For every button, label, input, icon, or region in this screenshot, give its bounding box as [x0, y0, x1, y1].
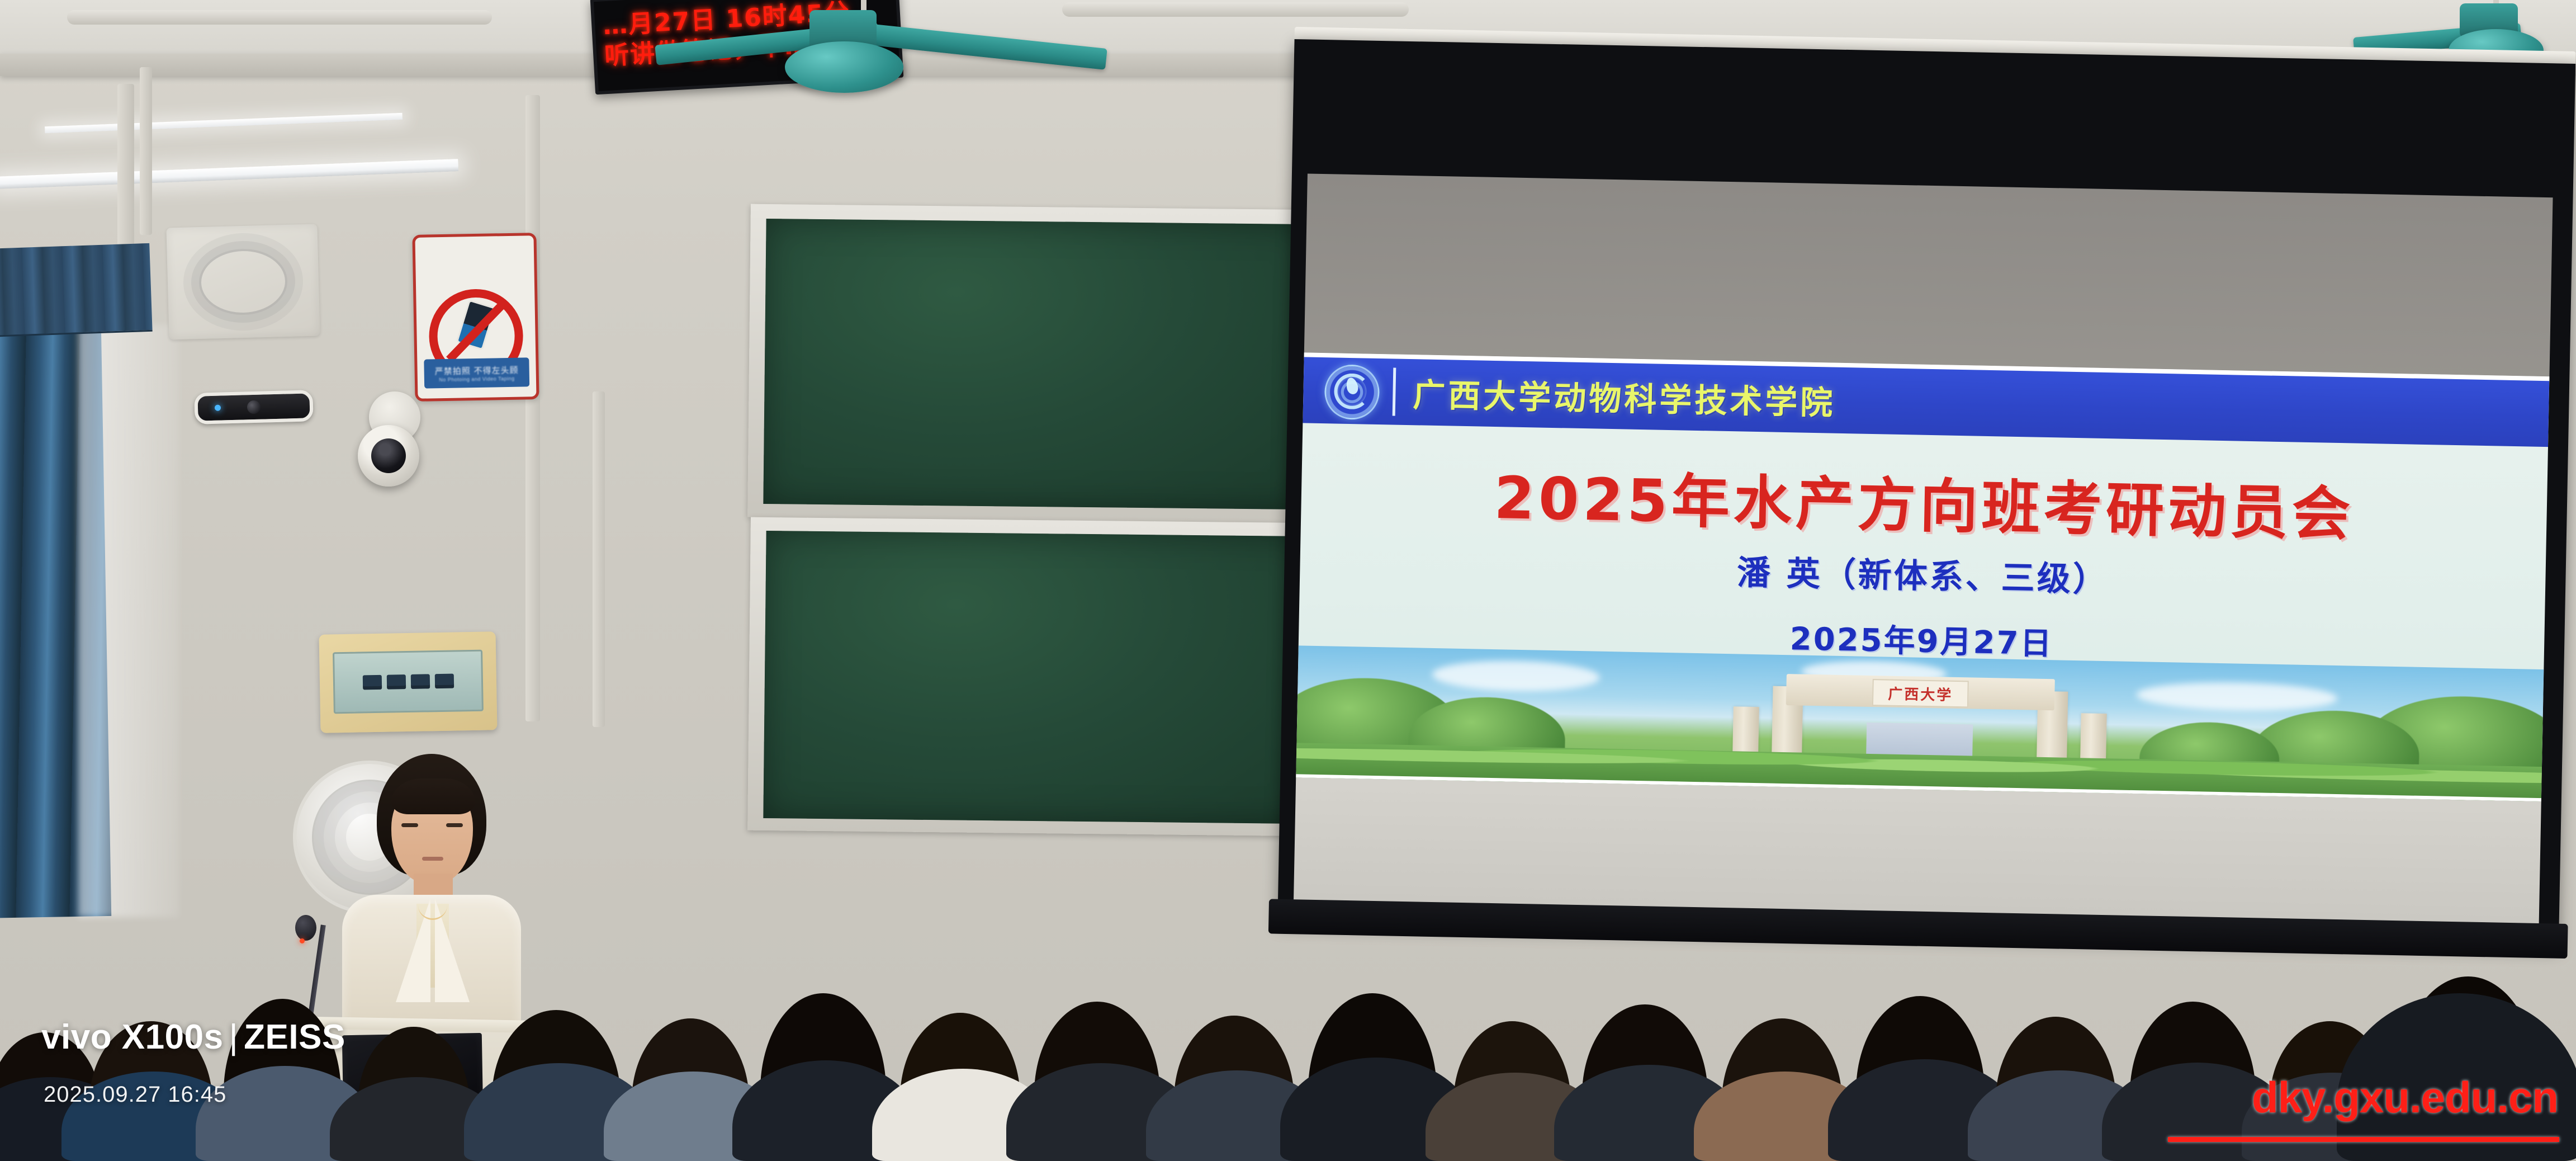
site-url-watermark: dky.gxu.edu.cn — [2252, 1072, 2558, 1123]
audience-group — [0, 848, 2576, 1161]
ceiling-fan-hub — [785, 41, 903, 93]
no-photography-caption: 严禁拍照 不得左头顾 No Photoing and Video Taping — [424, 357, 529, 388]
camera-lens-icon — [371, 438, 406, 473]
blackboard-frame-lower — [747, 517, 1321, 837]
breaker-switch — [434, 674, 453, 689]
electrical-breaker-box — [319, 631, 497, 733]
blackboard-panel-lower — [763, 531, 1309, 824]
slide-main-title: 2025年水产方向班考研动员会 — [1301, 446, 2547, 555]
presenter-eye — [446, 823, 463, 827]
cloud-shape — [1432, 659, 1600, 693]
wall-conduit — [140, 67, 152, 235]
breaker-switch — [362, 675, 381, 690]
ceiling-pipe — [1062, 2, 1409, 17]
gate-plaque-text: 广西大学 — [1888, 682, 1953, 704]
university-seal-icon — [1324, 364, 1380, 420]
curtain-highlight — [78, 324, 179, 917]
lecture-hall-photo: …月27日 16时45分 听讲做笔记，不… 严禁拍照 不得左头顾 No Phot… — [0, 0, 2576, 1161]
speaker-ripple-icon — [198, 248, 288, 316]
header-divider — [1393, 367, 1396, 416]
presenter-fringe — [391, 778, 475, 814]
blackboard-panel-upper — [763, 219, 1309, 509]
screen-black-border: 广西大学动物科学技术学院 2025年水产方向班考研动员会 潘 英（新体系、三级）… — [1277, 39, 2575, 947]
gate-name-plaque: 广西大学 — [1872, 679, 1969, 707]
no-photography-sign: 严禁拍照 不得左头顾 No Photoing and Video Taping — [412, 233, 539, 402]
sensor-bar-device — [194, 390, 313, 424]
status-led-icon — [215, 405, 221, 411]
no-photography-caption-en: No Photoing and Video Taping — [439, 375, 514, 382]
breaker-switch — [386, 674, 405, 690]
breaker-window — [333, 650, 484, 714]
wall-conduit — [525, 95, 540, 721]
curtain-valance — [0, 243, 153, 337]
camera-lens-label: ZEISS — [244, 1018, 345, 1056]
wall-conduit — [593, 391, 605, 727]
slide-header-org: 广西大学动物科学技术学院 — [1413, 369, 1836, 423]
camera-watermark: vivo X100s|ZEISS — [41, 1017, 345, 1057]
blackboard-frame-upper — [747, 204, 1321, 523]
wall-conduit — [117, 84, 134, 257]
sensor-lens-icon — [247, 400, 261, 414]
presentation-slide: 广西大学动物科学技术学院 2025年水产方向班考研动员会 潘 英（新体系、三级）… — [1296, 352, 2549, 801]
camera-brand-label: vivo X100s — [41, 1018, 224, 1056]
photo-timestamp: 2025.09.27 16:45 — [44, 1082, 226, 1107]
ceiling-pipe — [67, 10, 492, 25]
breaker-switch — [410, 674, 429, 689]
no-photography-caption-cn: 严禁拍照 不得左头顾 — [435, 364, 519, 377]
presenter-eye — [401, 823, 418, 827]
cctv-dome-camera — [358, 425, 419, 487]
camera-separator: | — [229, 1018, 239, 1056]
cloud-shape — [2136, 681, 2338, 712]
projector-unlit-area-top — [1304, 173, 2553, 382]
site-url-underline — [2168, 1137, 2559, 1142]
wall-speaker-panel — [166, 224, 320, 340]
